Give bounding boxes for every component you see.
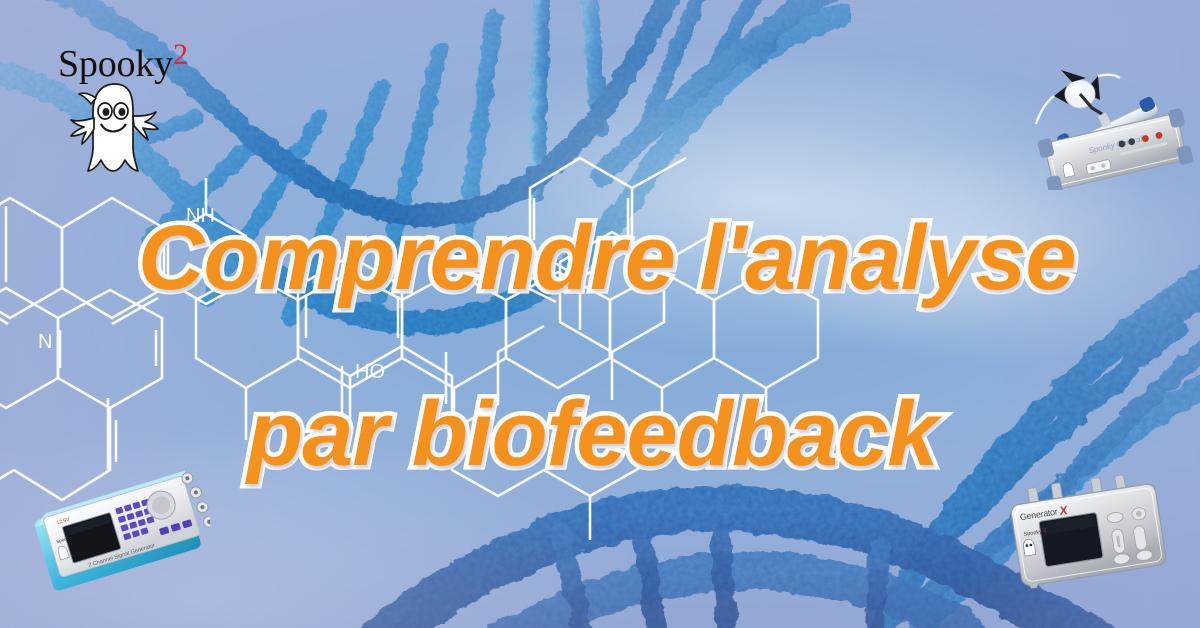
logo-superscript: 2 [173,38,188,71]
spooky-ghost-mascot-icon [60,74,170,178]
banner-image: NH N HO Spooky2 [0,0,1200,628]
molecule-label-HO: HO [355,361,385,383]
spooky2-logo[interactable]: Spooky2 [50,38,220,178]
molecule-label-N: N [38,331,52,353]
spooky2-central-plasma-device: Spooky Central [1028,62,1200,190]
molecule-label-NH: NH [186,205,215,227]
spooky2-generatorx-pro: Generator X Spooky 2 [1000,466,1176,602]
spooky2-xm-signal-generator: 12.5V 2 Channel Signal Generator Spooky [30,466,210,606]
